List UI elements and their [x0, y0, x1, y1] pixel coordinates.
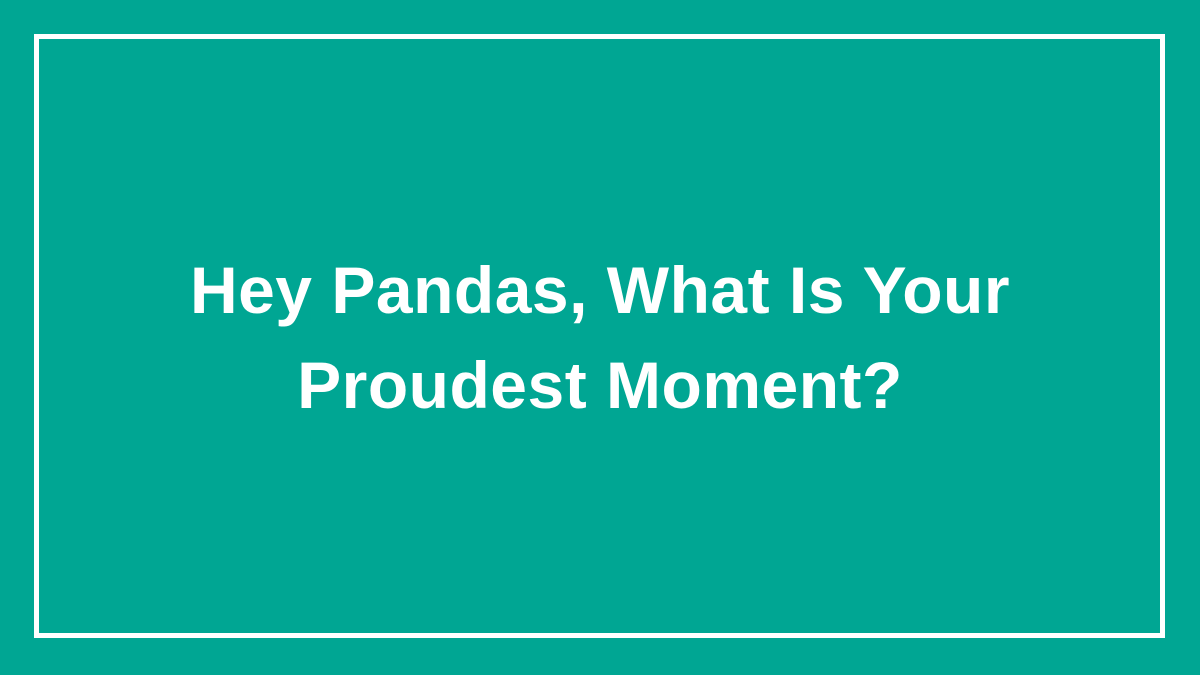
- headline-line-1: Hey Pandas, What Is Your: [90, 243, 1110, 338]
- poster-canvas: Hey Pandas, What Is Your Proudest Moment…: [0, 0, 1200, 675]
- headline-block: Hey Pandas, What Is Your Proudest Moment…: [0, 0, 1200, 675]
- headline-line-2: Proudest Moment?: [90, 338, 1110, 433]
